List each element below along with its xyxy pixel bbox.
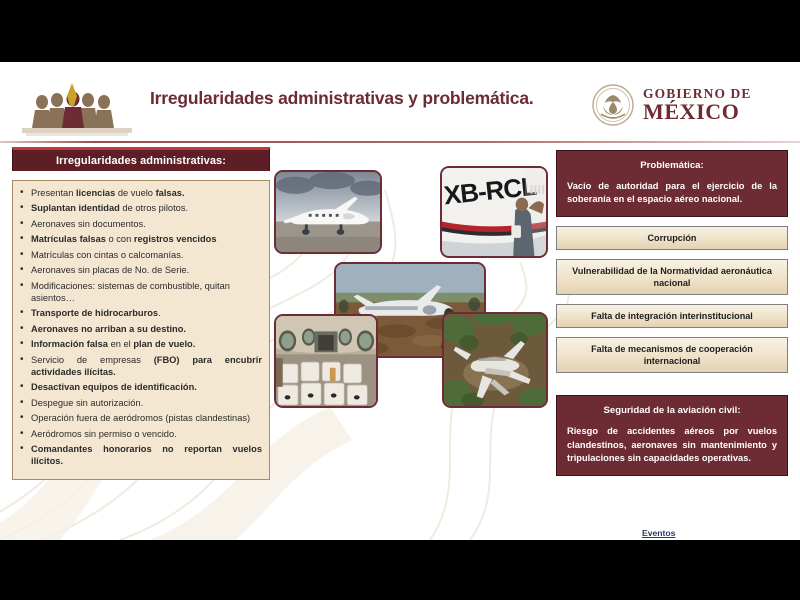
irregularidades-panel: Irregularidades administrativas: Present… <box>12 147 270 480</box>
list-item: Presentan licencias de vuelo falsas. <box>18 188 262 200</box>
photo-jet-runway <box>274 170 382 254</box>
irregularidades-panel-header: Irregularidades administrativas: <box>12 147 270 171</box>
screen: Irregularidades administrativas y proble… <box>0 0 800 600</box>
seguridad-body: Riesgo de accidentes aéreos por vuelos c… <box>567 425 777 465</box>
irregularidades-panel-body: Presentan licencias de vuelo falsas.Supl… <box>12 180 270 480</box>
problematica-body: Vacío de autoridad para el ejercicio de … <box>567 180 777 206</box>
list-item: Despegue sin autorización. <box>18 398 262 410</box>
photo-xbrcl-registration: XB-RCL <box>440 166 548 258</box>
list-item: Suplantan identidad de otros pilotos. <box>18 203 262 215</box>
problematica-items: CorrupciónVulnerabilidad de la Normativi… <box>556 226 788 373</box>
problematica-column: Problemática: Vacío de autoridad para el… <box>556 150 788 476</box>
list-item: Transporte de hidrocarburos. <box>18 308 262 320</box>
slide-header: Irregularidades administrativas y proble… <box>0 62 800 140</box>
seguridad-aviacion-box: Seguridad de la aviación civil: Riesgo d… <box>556 395 788 476</box>
list-item: Desactivan equipos de identificación. <box>18 382 262 394</box>
photo-cabin-fuel-drums <box>274 314 378 408</box>
list-item: Matrículas con cintas o calcomanías. <box>18 250 262 262</box>
list-item: Aeronaves sin placas de No. de Serie. <box>18 265 262 277</box>
presentation-slide: Irregularidades administrativas y proble… <box>0 62 800 540</box>
list-item: Comandantes honorarios no reportan vuelo… <box>18 444 262 468</box>
logo-line-gobierno: GOBIERNO DE <box>643 87 752 101</box>
logo-line-mexico: MÉXICO <box>643 101 752 123</box>
problematica-title: Problemática: <box>567 160 777 171</box>
list-item: Servicio de empresas (FBO) para encubrir… <box>18 355 262 379</box>
problematica-item: Vulnerabilidad de la Normatividad aeroná… <box>556 259 788 295</box>
list-item: Aeródromos sin permiso o vencido. <box>18 429 262 441</box>
problematica-item: Falta de integración interinstitucional <box>556 304 788 328</box>
list-item: Operación fuera de aeródromos (pistas cl… <box>18 413 262 425</box>
list-item: Información falsa en el plan de vuelo. <box>18 339 262 351</box>
list-item: Matrículas falsas o con registros vencid… <box>18 234 262 246</box>
photo-collage: XB-RCL <box>272 162 550 450</box>
heroes-monument-icon <box>18 80 136 138</box>
problematica-item: Falta de mecanismos de cooperación inter… <box>556 337 788 373</box>
collage-caption: Eventos relevantes: <box>642 528 687 540</box>
list-item: Aeronaves sin documentos. <box>18 219 262 231</box>
irregularidades-list: Presentan licencias de vuelo falsas.Supl… <box>18 188 262 468</box>
list-item: Aeronaves no arriban a su destino. <box>18 324 262 336</box>
gobierno-de-mexico-logo: GOBIERNO DE MÉXICO <box>592 84 752 126</box>
header-divider <box>0 141 800 143</box>
problematica-item: Corrupción <box>556 226 788 250</box>
seguridad-title: Seguridad de la aviación civil: <box>567 405 777 416</box>
photo-aircraft-wreck <box>442 312 548 408</box>
problematica-box: Problemática: Vacío de autoridad para el… <box>556 150 788 217</box>
mexican-eagle-seal-icon <box>592 84 634 126</box>
page-title: Irregularidades administrativas y proble… <box>150 88 570 109</box>
list-item: Modificaciones: sistemas de combustible,… <box>18 281 262 305</box>
